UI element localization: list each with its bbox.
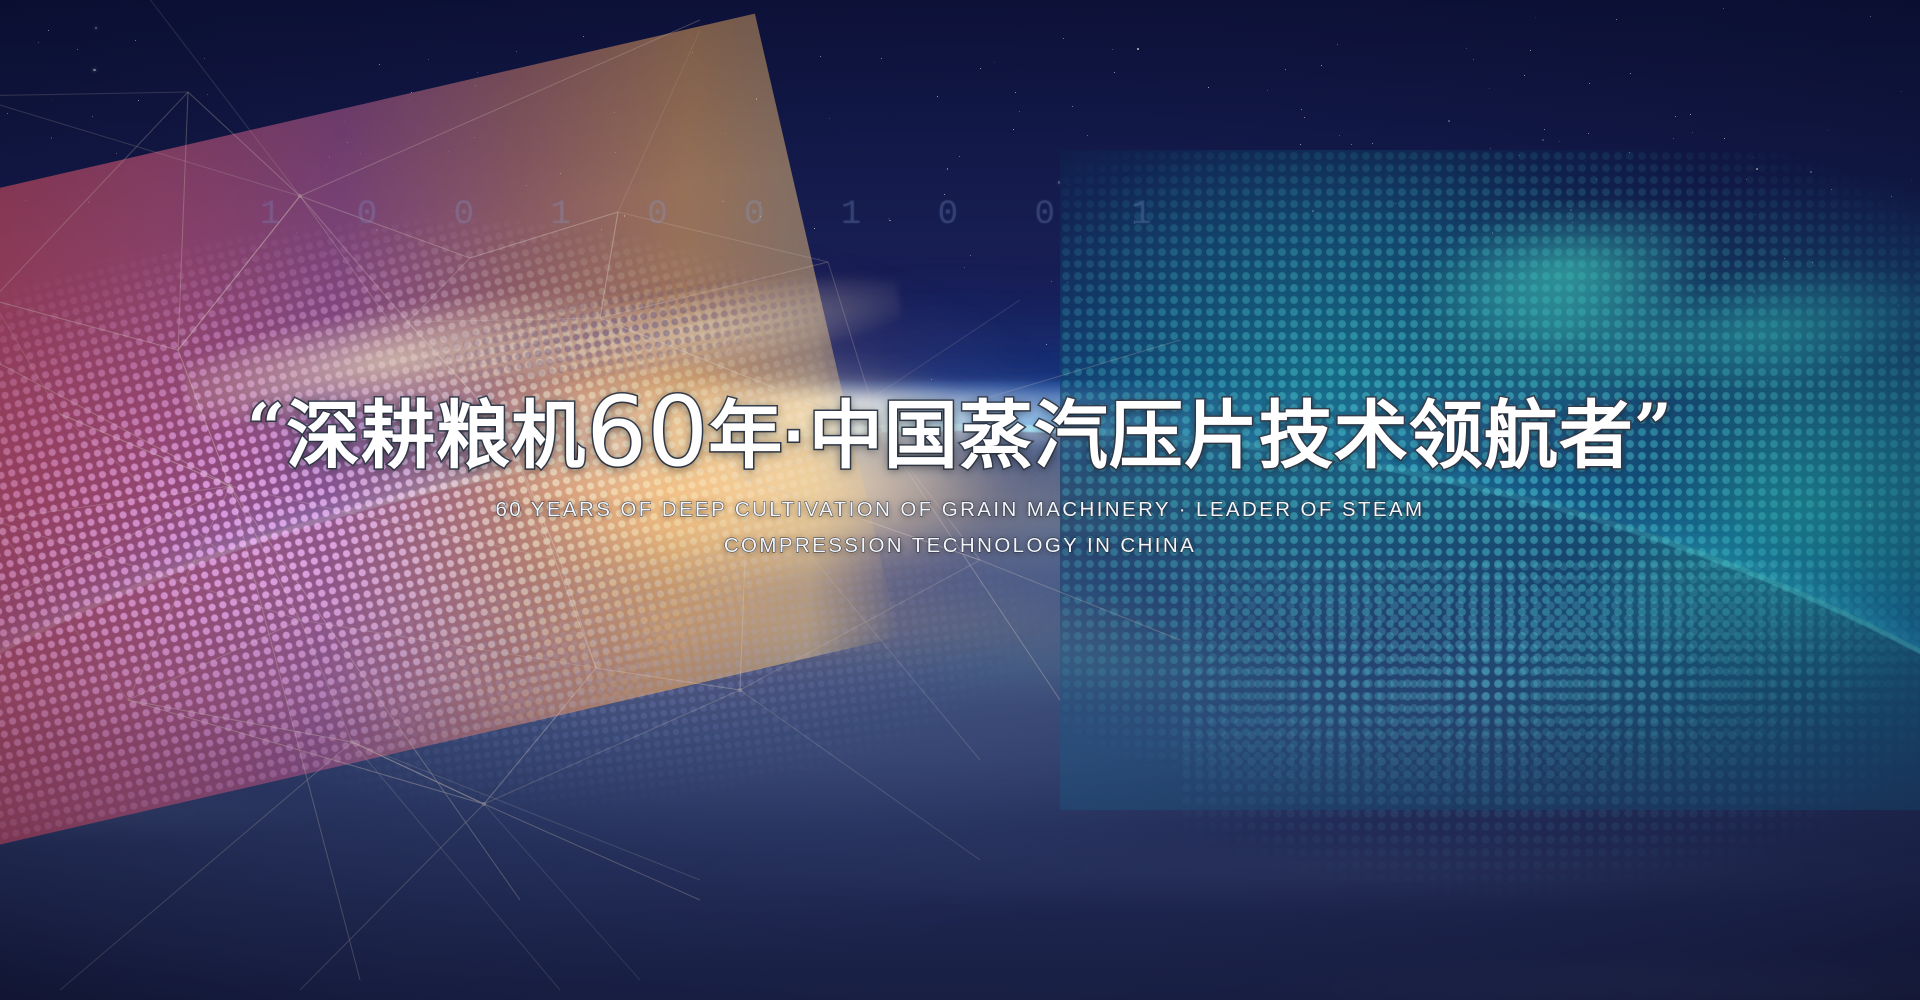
page-title: “深耕粮机60年·中国蒸汽压片技术领航者” (0, 382, 1920, 484)
binary-code-strip: 1 0 0 1 0 0 1 0 0 1 (260, 196, 1420, 234)
close-quote-mark: ” (1634, 389, 1673, 467)
subtitle-line-1: 60 YEARS OF DEEP CULTIVATION OF GRAIN MA… (0, 498, 1920, 522)
headline-part-2: 年·中国蒸汽压片技术领航者 (708, 394, 1634, 477)
headline-text-block: “深耕粮机60年·中国蒸汽压片技术领航者” 60 YEARS OF DEEP C… (0, 382, 1920, 558)
open-quote-mark: “ (247, 389, 286, 467)
subtitle-line-2: COMPRESSION TECHNOLOGY IN CHINA (0, 534, 1920, 558)
headline-part-1: 深耕粮机 (286, 394, 586, 477)
banner-canvas: 1 0 0 1 0 0 1 0 0 1 “深耕粮机60年·中国蒸汽压片技术领航者… (0, 0, 1920, 1000)
headline-number-60: 60 (586, 376, 708, 488)
